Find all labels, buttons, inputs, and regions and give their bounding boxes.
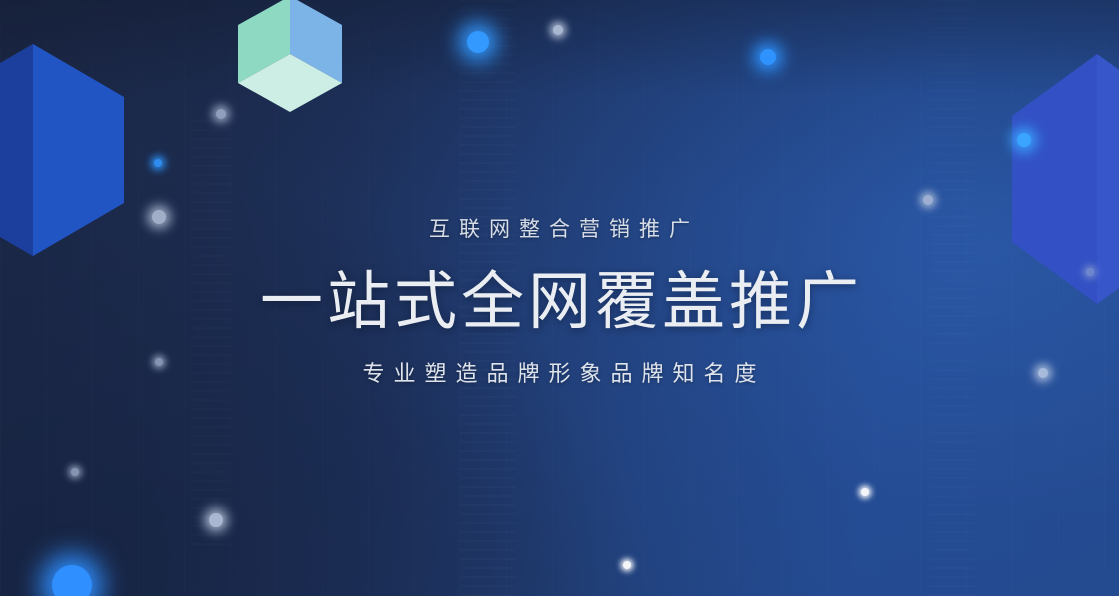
hero-text-block: 互联网整合营销推广 一站式全网覆盖推广 专业塑造品牌形象品牌知名度 (0, 214, 1119, 390)
tagline-bottom: 专业塑造品牌形象品牌知名度 (0, 358, 1119, 390)
tagline-top: 互联网整合营销推广 (0, 214, 1119, 246)
page-title: 一站式全网覆盖推广 (0, 264, 1119, 340)
cube-logo-shape (238, 0, 342, 112)
hero-banner: 互联网整合营销推广 一站式全网覆盖推广 专业塑造品牌形象品牌知名度 (0, 0, 1119, 596)
cube-logo-icon (238, 0, 342, 112)
